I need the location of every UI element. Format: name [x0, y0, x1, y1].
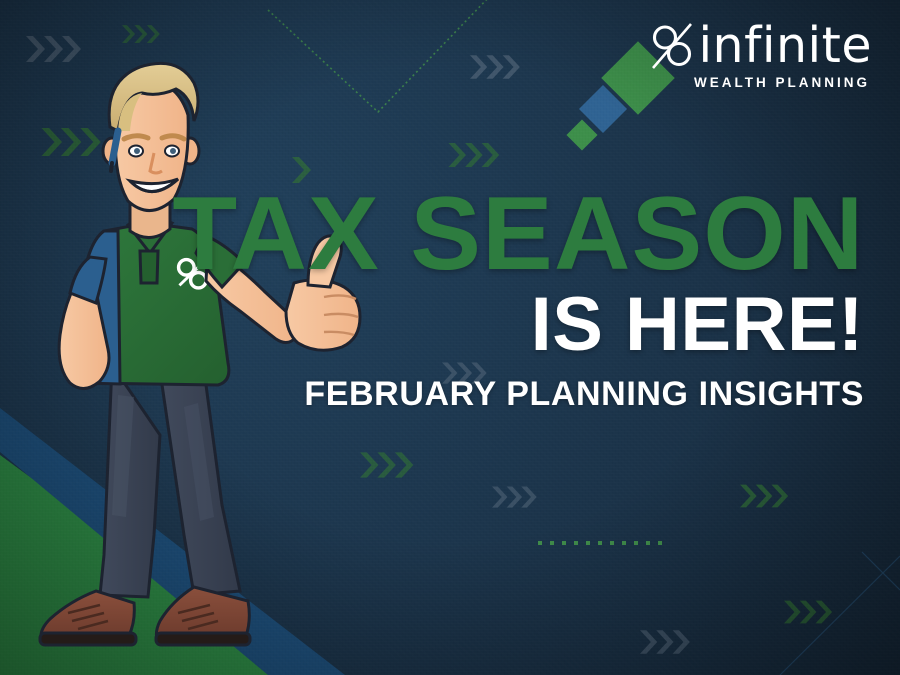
infinity-dollar-logo-icon: [648, 20, 696, 72]
headline-line-1: TAX SEASON: [172, 186, 864, 283]
headline-line-2: IS HERE!: [186, 287, 864, 363]
headline-block: TAX SEASON IS HERE! FEBRUARY PLANNING IN…: [186, 186, 864, 414]
character-left-arm: [59, 257, 109, 389]
brand-tagline: WEALTH PLANNING: [694, 75, 870, 90]
promo-graphic-canvas: infinite WEALTH PLANNING TAX SEASON IS H…: [0, 0, 900, 675]
brand-name: infinite: [698, 23, 872, 68]
headline-subtitle: FEBRUARY PLANNING INSIGHTS: [186, 375, 864, 414]
brand-logo-row: infinite: [648, 20, 872, 72]
brand-logo[interactable]: infinite WEALTH PLANNING: [648, 20, 872, 90]
